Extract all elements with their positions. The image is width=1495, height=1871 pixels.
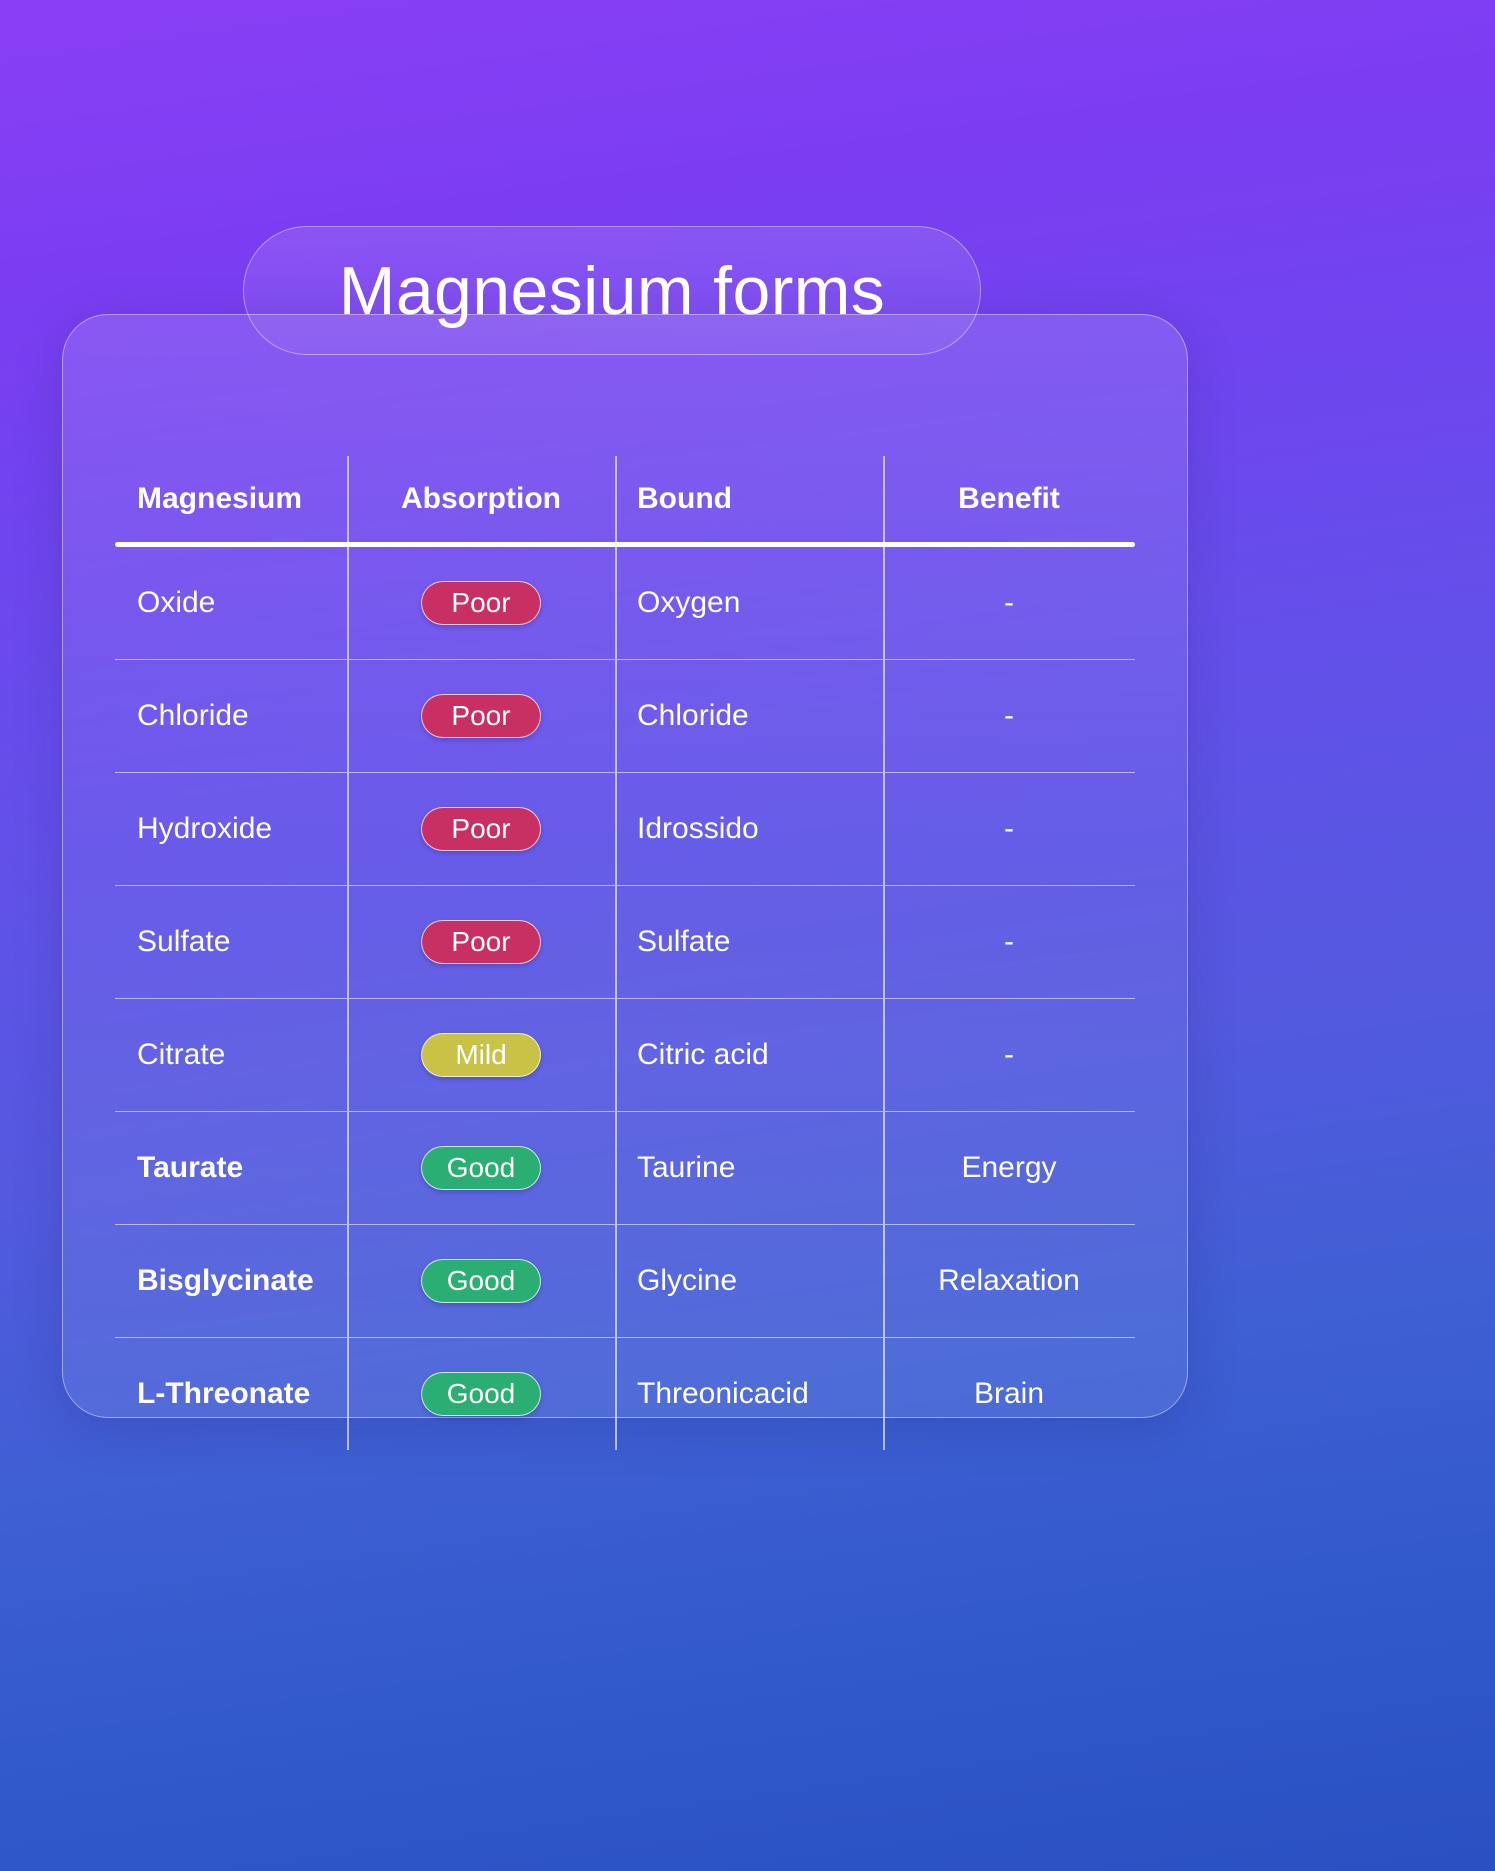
page-title: Magnesium forms xyxy=(339,257,885,325)
cell-bound: Idrossido xyxy=(615,773,883,885)
cell-absorption: Good xyxy=(347,1225,615,1337)
column-header-bound: Bound xyxy=(615,456,883,542)
cell-benefit: - xyxy=(883,886,1135,998)
cell-absorption: Good xyxy=(347,1338,615,1450)
cell-bound: Taurine xyxy=(615,1112,883,1224)
table-row: L-ThreonateGoodThreonicacidBrain xyxy=(115,1337,1135,1450)
cell-absorption: Poor xyxy=(347,660,615,772)
cell-absorption: Poor xyxy=(347,886,615,998)
absorption-badge: Mild xyxy=(421,1033,541,1077)
benefit-value: Brain xyxy=(974,1377,1044,1411)
cell-magnesium: Oxide xyxy=(115,547,347,659)
cell-absorption: Mild xyxy=(347,999,615,1111)
cell-bound: Threonicacid xyxy=(615,1338,883,1450)
cell-magnesium: Hydroxide xyxy=(115,773,347,885)
cell-magnesium: Citrate xyxy=(115,999,347,1111)
benefit-empty-dash: - xyxy=(1004,1038,1014,1072)
benefit-empty-dash: - xyxy=(1004,925,1014,959)
cell-benefit: Energy xyxy=(883,1112,1135,1224)
cell-benefit: - xyxy=(883,773,1135,885)
cell-absorption: Poor xyxy=(347,547,615,659)
table-row: SulfatePoorSulfate- xyxy=(115,885,1135,998)
absorption-badge: Good xyxy=(421,1259,541,1303)
cell-bound: Citric acid xyxy=(615,999,883,1111)
table-row: CitrateMildCitric acid- xyxy=(115,998,1135,1111)
cell-benefit: Brain xyxy=(883,1338,1135,1450)
absorption-badge: Good xyxy=(421,1146,541,1190)
cell-benefit: Relaxation xyxy=(883,1225,1135,1337)
table-row: ChloridePoorChloride- xyxy=(115,659,1135,772)
table-row: TaurateGoodTaurineEnergy xyxy=(115,1111,1135,1224)
absorption-badge: Poor xyxy=(421,581,541,625)
cell-benefit: - xyxy=(883,999,1135,1111)
column-header-magnesium: Magnesium xyxy=(115,456,347,542)
absorption-badge: Poor xyxy=(421,920,541,964)
table-row: HydroxidePoorIdrossido- xyxy=(115,772,1135,885)
absorption-badge: Poor xyxy=(421,694,541,738)
cell-bound: Glycine xyxy=(615,1225,883,1337)
table-row: OxidePoorOxygen- xyxy=(115,547,1135,659)
cell-absorption: Good xyxy=(347,1112,615,1224)
cell-magnesium: Chloride xyxy=(115,660,347,772)
benefit-empty-dash: - xyxy=(1004,586,1014,620)
cell-magnesium: Bisglycinate xyxy=(115,1225,347,1337)
column-header-absorption: Absorption xyxy=(347,456,615,542)
cell-bound: Sulfate xyxy=(615,886,883,998)
cell-bound: Chloride xyxy=(615,660,883,772)
table-header-row: Magnesium Absorption Bound Benefit xyxy=(115,456,1135,542)
cell-magnesium: L-Threonate xyxy=(115,1338,347,1450)
cell-bound: Oxygen xyxy=(615,547,883,659)
cell-magnesium: Sulfate xyxy=(115,886,347,998)
cell-benefit: - xyxy=(883,547,1135,659)
absorption-badge: Poor xyxy=(421,807,541,851)
table-body: OxidePoorOxygen-ChloridePoorChloride-Hyd… xyxy=(115,547,1135,1450)
table-row: BisglycinateGoodGlycineRelaxation xyxy=(115,1224,1135,1337)
absorption-badge: Good xyxy=(421,1372,541,1416)
benefit-value: Relaxation xyxy=(938,1264,1080,1298)
cell-benefit: - xyxy=(883,660,1135,772)
benefit-empty-dash: - xyxy=(1004,812,1014,846)
magnesium-forms-table: Magnesium Absorption Bound Benefit Oxide… xyxy=(115,456,1135,1450)
cell-magnesium: Taurate xyxy=(115,1112,347,1224)
title-pill: Magnesium forms xyxy=(243,226,981,355)
cell-absorption: Poor xyxy=(347,773,615,885)
column-header-benefit: Benefit xyxy=(883,456,1135,542)
benefit-value: Energy xyxy=(961,1151,1056,1185)
benefit-empty-dash: - xyxy=(1004,699,1014,733)
